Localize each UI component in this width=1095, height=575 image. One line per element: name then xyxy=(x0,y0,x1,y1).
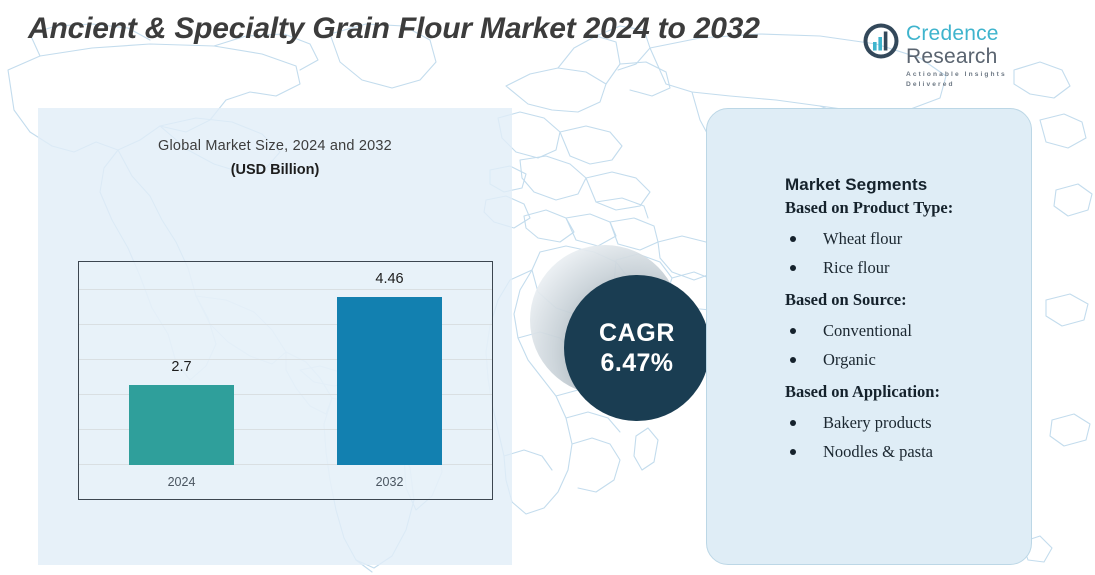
segment-group-title-product-type: Based on Product Type: xyxy=(785,198,1019,218)
bar-value-label-2032: 4.46 xyxy=(337,271,442,287)
list-item: Rice flour xyxy=(785,253,1019,282)
list-item: Noodles & pasta xyxy=(785,437,1019,466)
segment-list-source: Conventional Organic xyxy=(785,316,1019,374)
logo-tagline: Actionable Insights Delivered xyxy=(906,70,1057,90)
list-item-label: Noodles & pasta xyxy=(823,442,933,461)
bar-value-label-2024: 2.7 xyxy=(129,359,234,375)
list-item: Conventional xyxy=(785,316,1019,345)
bar-category-label-2032: 2032 xyxy=(337,475,442,489)
bar-2032: 4.46 2032 xyxy=(337,297,442,465)
list-item: Bakery products xyxy=(785,408,1019,437)
bar-rect-2024 xyxy=(129,385,234,465)
cagr-badge: CAGR 6.47% xyxy=(530,245,715,435)
chart-panel: Global Market Size, 2024 and 2032 (USD B… xyxy=(38,108,512,565)
logo-name-credence: Credence xyxy=(906,22,999,45)
chart-heading: Global Market Size, 2024 and 2032 (USD B… xyxy=(38,138,512,178)
list-item: Wheat flour xyxy=(785,224,1019,253)
bar-category-label-2024: 2024 xyxy=(129,475,234,489)
brand-logo: Credence Research Actionable Insights De… xyxy=(862,20,1057,66)
bar-chart-plot-area: 2.7 2024 4.46 2032 xyxy=(78,261,493,500)
list-item: Organic xyxy=(785,345,1019,374)
logo-name: Credence Research xyxy=(906,22,1057,68)
cagr-label: CAGR xyxy=(599,318,675,348)
bar-chart-circle-icon xyxy=(862,22,900,60)
segment-list-product-type: Wheat flour Rice flour xyxy=(785,224,1019,282)
list-item-label: Rice flour xyxy=(823,258,889,277)
list-item-label: Organic xyxy=(823,350,876,369)
bullet-icon xyxy=(790,328,796,334)
bullet-icon xyxy=(790,420,796,426)
list-item-label: Wheat flour xyxy=(823,229,902,248)
bullet-icon xyxy=(790,357,796,363)
bullet-icon xyxy=(790,449,796,455)
bar-series: 2.7 2024 4.46 2032 xyxy=(79,262,492,499)
market-segments-content: Market Segments Based on Product Type: W… xyxy=(785,175,1019,474)
cagr-value: 6.47% xyxy=(601,348,674,379)
list-item-label: Conventional xyxy=(823,321,912,340)
bullet-icon xyxy=(790,265,796,271)
list-item-label: Bakery products xyxy=(823,413,932,432)
cagr-circle: CAGR 6.47% xyxy=(564,275,710,421)
chart-heading-line2: (USD Billion) xyxy=(38,162,512,178)
market-segments-heading: Market Segments xyxy=(785,175,1019,195)
segment-list-application: Bakery products Noodles & pasta xyxy=(785,408,1019,466)
infographic-root: Ancient & Specialty Grain Flour Market 2… xyxy=(0,0,1095,575)
logo-name-research: Research xyxy=(906,45,997,68)
bar-2024: 2.7 2024 xyxy=(129,385,234,465)
segment-group-title-source: Based on Source: xyxy=(785,290,1019,310)
page-title: Ancient & Specialty Grain Flour Market 2… xyxy=(28,8,848,49)
market-segments-panel: Market Segments Based on Product Type: W… xyxy=(706,108,1032,565)
chart-heading-line1: Global Market Size, 2024 and 2032 xyxy=(38,138,512,154)
bullet-icon xyxy=(790,236,796,242)
segment-group-title-application: Based on Application: xyxy=(785,382,1019,402)
bar-rect-2032 xyxy=(337,297,442,465)
logo-text: Credence Research Actionable Insights De… xyxy=(906,22,1057,90)
